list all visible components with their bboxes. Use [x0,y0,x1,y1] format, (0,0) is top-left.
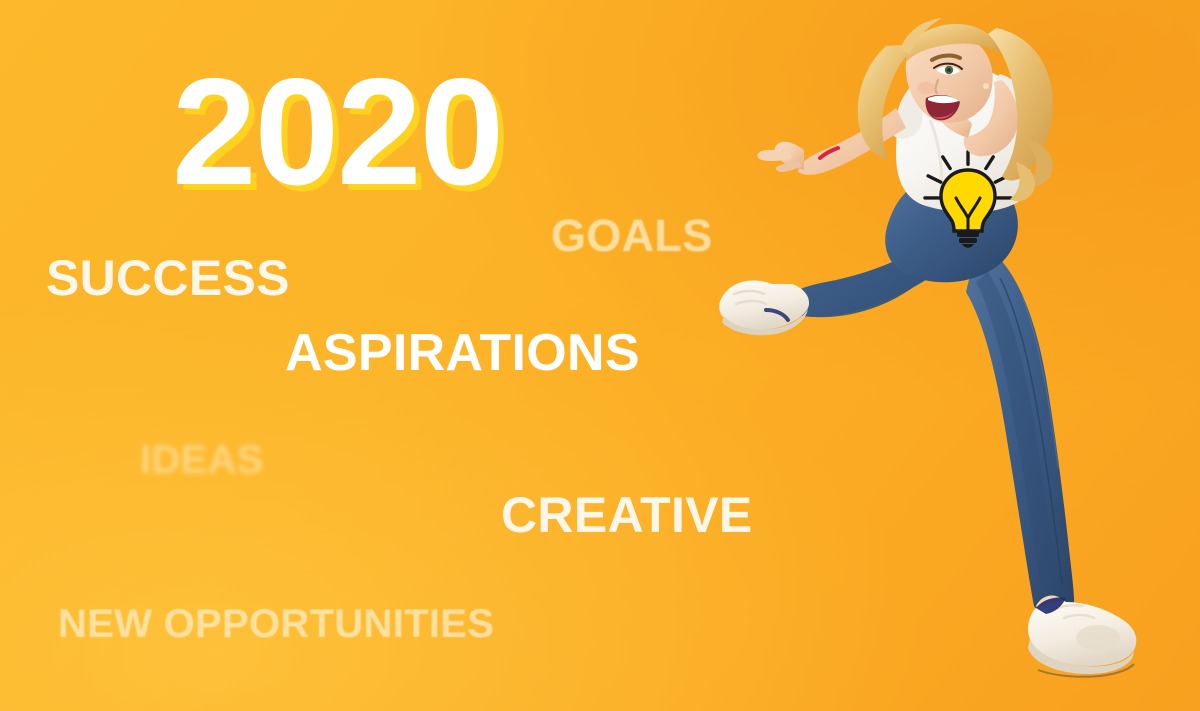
jumping-woman-photo [700,10,1180,700]
keyword-creative: CREATIVE [501,490,753,540]
keyword-goals: GOALS [551,213,713,258]
poster-canvas: 2020 SUCCESS GOALS ASPIRATIONS IDEAS CRE… [0,0,1200,711]
keyword-new-opportunities: NEW OPPORTUNITIES [58,604,494,644]
keyword-success: SUCCESS [46,253,290,303]
keyword-aspirations: ASPIRATIONS [285,327,640,379]
keyword-ideas: IDEAS [140,440,264,480]
page-title: 2020 [172,56,502,208]
